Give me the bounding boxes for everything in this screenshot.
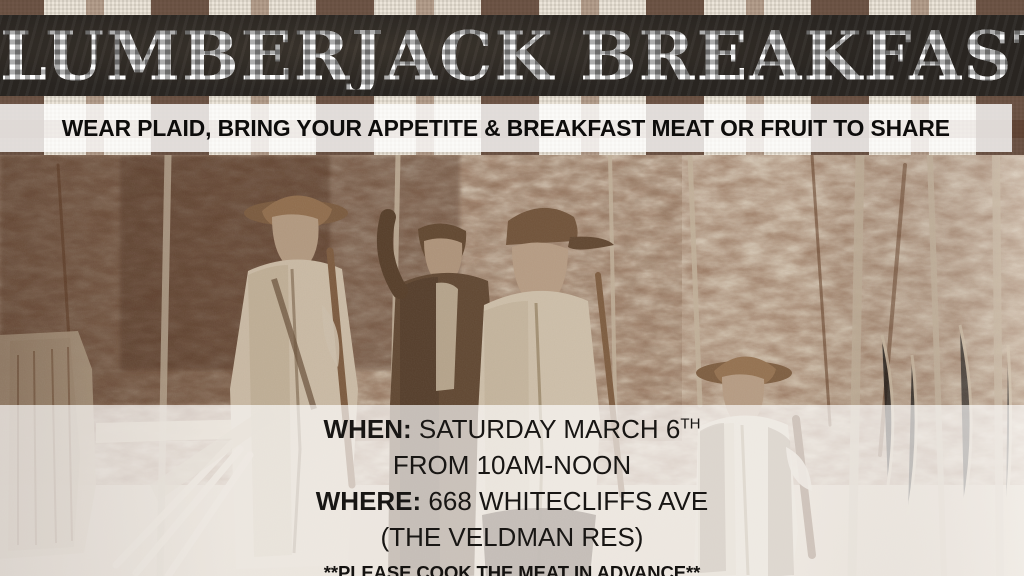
when-spacer — [412, 414, 419, 444]
when-value: SATURDAY MARCH 6 — [419, 414, 681, 444]
poster: LUMBERJACK BREAKFAST WEAR PLAID, BRING Y… — [0, 0, 1024, 576]
when-ordinal: TH — [680, 415, 700, 432]
time-line: FROM 10AM-NOON — [393, 448, 631, 484]
where-sub-line: (THE VELDMAN RES) — [381, 520, 644, 556]
when-line: WHEN: SATURDAY MARCH 6TH — [324, 412, 701, 448]
subtitle-band: WEAR PLAID, BRING YOUR APPETITE & BREAKF… — [0, 104, 1012, 152]
where-line: WHERE: 668 WHITECLIFFS AVE — [316, 484, 709, 520]
subtitle-text: WEAR PLAID, BRING YOUR APPETITE & BREAKF… — [62, 115, 950, 142]
cook-note: **PLEASE COOK THE MEAT IN ADVANCE** — [324, 562, 700, 576]
where-label: WHERE: — [316, 486, 421, 516]
title-band: LUMBERJACK BREAKFAST — [0, 15, 1024, 96]
when-label: WHEN: — [324, 414, 412, 444]
event-details-band: WHEN: SATURDAY MARCH 6TH FROM 10AM-NOON … — [0, 405, 1024, 576]
page-title: LUMBERJACK BREAKFAST — [0, 22, 1024, 89]
where-value: 668 WHITECLIFFS AVE — [428, 486, 708, 516]
